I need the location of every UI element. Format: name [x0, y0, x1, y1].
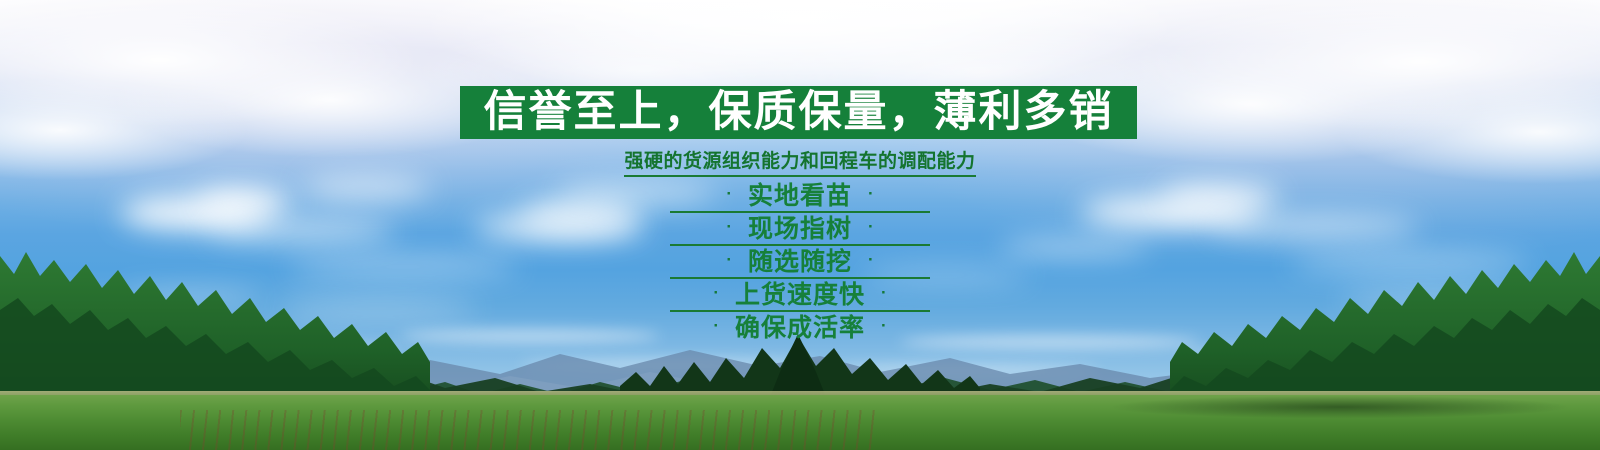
bullet-dot-icon: ·: [868, 185, 874, 202]
bullet-dot-icon: ·: [713, 284, 719, 301]
bullet-dot-icon: ·: [713, 317, 719, 334]
list-item-label: 现场指树: [748, 216, 852, 241]
list-item: · 随选随挖 ·: [670, 246, 930, 279]
list-item-label: 实地看苗: [748, 183, 852, 208]
bullet-dot-icon: ·: [726, 251, 732, 268]
list-item-label: 确保成活率: [735, 315, 865, 340]
title-banner-bar: 信誉至上，保质保量，薄利多销: [460, 86, 1137, 139]
bullet-dot-icon: ·: [726, 185, 732, 202]
bullet-dot-icon: ·: [868, 251, 874, 268]
list-item-label: 上货速度快: [735, 282, 865, 307]
bullet-dot-icon: ·: [726, 218, 732, 235]
banner-title: 信誉至上，保质保量，薄利多销: [484, 91, 1114, 134]
bullet-dot-icon: ·: [881, 317, 887, 334]
banner-subtitle: 强硬的货源组织能力和回程车的调配能力: [624, 146, 975, 177]
list-item: · 确保成活率 ·: [670, 312, 930, 343]
list-item-label: 随选随挖: [748, 249, 852, 274]
hero-banner: 信誉至上，保质保量，薄利多销 强硬的货源组织能力和回程车的调配能力 · 实地看苗…: [0, 0, 1600, 450]
list-item: · 现场指树 ·: [670, 213, 930, 246]
list-item: · 上货速度快 ·: [670, 279, 930, 312]
bullet-dot-icon: ·: [881, 284, 887, 301]
list-item: · 实地看苗 ·: [670, 180, 930, 213]
banner-content: 信誉至上，保质保量，薄利多销 强硬的货源组织能力和回程车的调配能力 · 实地看苗…: [0, 0, 1600, 450]
bullet-dot-icon: ·: [868, 218, 874, 235]
banner-subtitle-wrap: 强硬的货源组织能力和回程车的调配能力: [0, 146, 1600, 177]
selling-points-list: · 实地看苗 · · 现场指树 · · 随选随挖 · · 上货速度快 · ·: [0, 180, 1600, 343]
